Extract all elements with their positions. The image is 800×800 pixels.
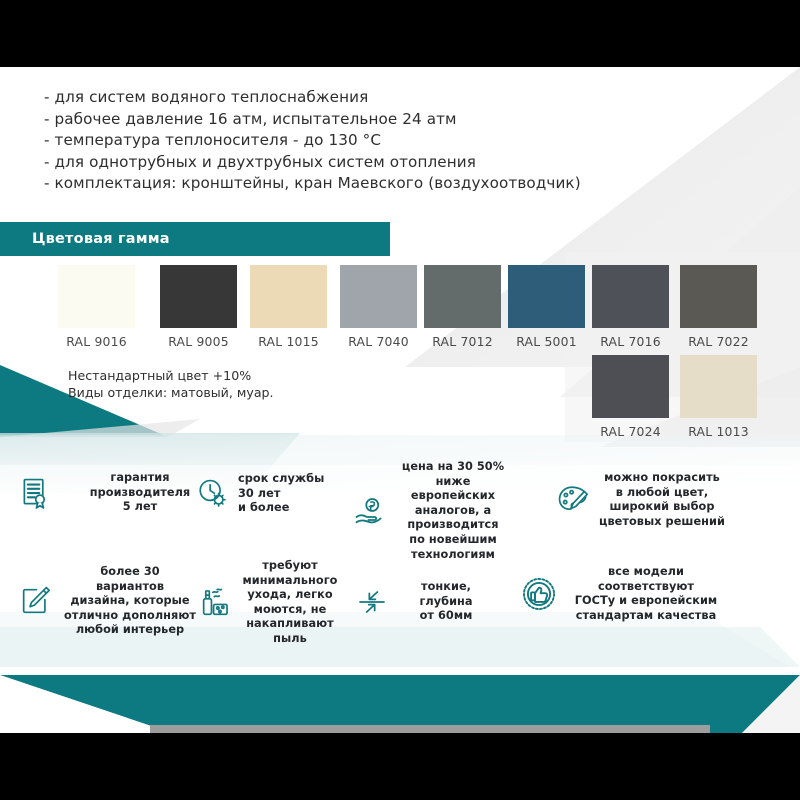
swatch-chip [58, 265, 135, 328]
feature-text-line: и более [238, 501, 346, 516]
feature-text-line: накапливают [238, 617, 342, 632]
thumbs-up-badge-icon [520, 575, 558, 613]
slide-canvas: - для систем водяного теплоснабжения - р… [0, 67, 800, 733]
spec-bullet-list: - для систем водяного теплоснабжения - р… [44, 87, 664, 195]
feature-item: требуютминимальногоухода, легкомоются, н… [198, 559, 342, 647]
color-range-header: Цветовая гамма [0, 222, 390, 256]
clock-gear-icon [196, 477, 230, 511]
feature-text: цена на 30 50%ниже европейскиханалогов, … [394, 460, 512, 562]
swatch-chip [680, 355, 757, 418]
feature-text-line: 30 лет [238, 487, 346, 502]
spray-sponge-icon [198, 586, 232, 620]
bullet-item: - для систем водяного теплоснабжения [44, 87, 664, 109]
feature-item: цена на 30 50%ниже европейскиханалогов, … [352, 460, 512, 562]
bullet-item: - для однотрубных и двухтрубных систем о… [44, 152, 664, 174]
feature-text-line: цветовых решений [598, 515, 726, 530]
color-swatch[interactable]: RAL 9016 [58, 265, 135, 349]
note-line: Нестандартный цвет +10% [68, 367, 274, 384]
feature-text-line: отлично дополняют [60, 609, 200, 624]
feature-text: тонкие, глубинаот 60мм [396, 580, 496, 624]
swatch-label: RAL 7016 [592, 334, 669, 349]
feature-text-line: все модели [566, 565, 726, 580]
swatch-label: RAL 7022 [680, 334, 757, 349]
note-line: Виды отделки: матовый, муар. [68, 384, 274, 401]
custom-color-note: Нестандартный цвет +10% Виды отделки: ма… [68, 367, 274, 401]
feature-text-line: цена на 30 50% [394, 460, 512, 475]
swatch-label: RAL 9016 [58, 334, 135, 349]
letterbox-bottom [0, 733, 800, 800]
feature-text-line: аналогов, а [394, 504, 512, 519]
feature-item: срок службы30 лети более [196, 472, 346, 516]
feature-text-line: по новейшим [394, 533, 512, 548]
feature-text-line: дизайна, которые [60, 594, 200, 609]
feature-item: можно покраситьв любой цвет,широкий выбо… [556, 471, 726, 529]
feature-text-line: срок службы [238, 472, 346, 487]
feature-item: тонкие, глубинаот 60мм [356, 580, 496, 624]
color-swatch[interactable]: RAL 7022 [680, 265, 757, 349]
feature-text-line: ниже европейских [394, 475, 512, 504]
color-swatch[interactable]: RAL 9005 [160, 265, 237, 349]
feature-text-line: от 60мм [396, 609, 496, 624]
swatch-chip [508, 265, 585, 328]
letterbox-top [0, 0, 800, 67]
feature-item: все моделисоответствуютГОСТу и европейск… [520, 565, 726, 623]
feature-text-line: широкий выбор [598, 500, 726, 515]
color-swatch[interactable]: RAL 7024 [592, 355, 669, 439]
feature-text-line: ухода, легко [238, 588, 342, 603]
swatch-label: RAL 1013 [680, 424, 757, 439]
swatch-chip [160, 265, 237, 328]
swatch-chip [250, 265, 327, 328]
swatch-label: RAL 7012 [424, 334, 501, 349]
swatch-label: RAL 7024 [592, 424, 669, 439]
color-swatch[interactable]: RAL 7012 [424, 265, 501, 349]
color-swatch[interactable]: RAL 5001 [508, 265, 585, 349]
feature-text: можно покраситьв любой цвет,широкий выбо… [598, 471, 726, 529]
feature-text-line: тонкие, глубина [396, 580, 496, 609]
feature-text: срок службы30 лети более [238, 472, 346, 516]
feature-text-line: технологиям [394, 548, 512, 563]
certificate-icon [18, 476, 52, 510]
feature-text: более 30вариантовдизайна, которыеотлично… [60, 565, 200, 638]
swatch-label: RAL 7040 [340, 334, 417, 349]
pencil-design-icon [18, 584, 52, 618]
hand-ruble-icon [352, 493, 388, 529]
feature-text-line: стандартам качества [566, 609, 726, 624]
bullet-item: - комплектация: кронштейны, кран Маевско… [44, 173, 664, 195]
feature-text-line: более 30 [60, 565, 200, 580]
feature-text: требуютминимальногоухода, легкомоются, н… [238, 559, 342, 647]
feature-text-line: соответствуют [566, 580, 726, 595]
feature-text-line: производится [394, 518, 512, 533]
bullet-item: - температура теплоносителя - до 130 °C [44, 130, 664, 152]
color-swatch[interactable]: RAL 7040 [340, 265, 417, 349]
color-swatch[interactable]: RAL 1013 [680, 355, 757, 439]
feature-text-line: пыль [238, 632, 342, 647]
feature-text: все моделисоответствуютГОСТу и европейск… [566, 565, 726, 623]
feature-text-line: требуют [238, 559, 342, 574]
feature-text-line: моются, не [238, 603, 342, 618]
swatch-chip [680, 265, 757, 328]
feature-item: более 30вариантовдизайна, которыеотлично… [18, 565, 200, 638]
swatch-chip [424, 265, 501, 328]
swatch-label: RAL 9005 [160, 334, 237, 349]
swatch-label: RAL 1015 [250, 334, 327, 349]
swatch-chip [592, 265, 669, 328]
paint-palette-icon [556, 483, 590, 517]
swatch-chip [340, 265, 417, 328]
color-swatch[interactable]: RAL 1015 [250, 265, 327, 349]
color-swatch[interactable]: RAL 7016 [592, 265, 669, 349]
depth-arrows-icon [356, 586, 388, 618]
feature-text-line: минимального [238, 574, 342, 589]
feature-text-line: вариантов [60, 580, 200, 595]
feature-text-line: ГОСТу и европейским [566, 594, 726, 609]
feature-text-line: любой интерьер [60, 623, 200, 638]
color-range-title: Цветовая гамма [32, 231, 170, 247]
feature-text-line: в любой цвет, [598, 486, 726, 501]
swatch-chip [592, 355, 669, 418]
feature-text-line: можно покрасить [598, 471, 726, 486]
swatch-label: RAL 5001 [508, 334, 585, 349]
feature-item: гарантияпроизводителя5 лет [18, 471, 220, 515]
bullet-item: - рабочее давление 16 атм, испытательное… [44, 109, 664, 131]
